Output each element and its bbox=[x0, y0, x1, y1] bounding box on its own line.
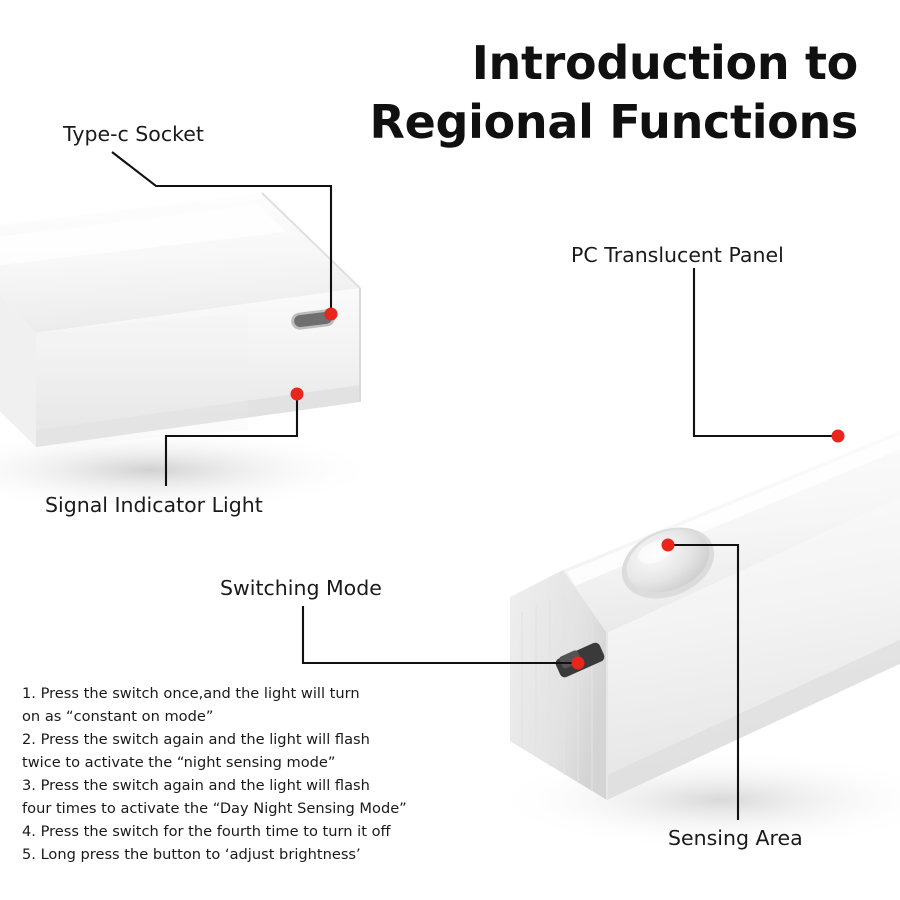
instruction-line: 5. Long press the button to ‘adjust brig… bbox=[22, 843, 452, 866]
label-type-c-socket: Type-c Socket bbox=[63, 122, 204, 147]
label-signal-indicator-light: Signal Indicator Light bbox=[45, 493, 263, 518]
label-sensing-area: Sensing Area bbox=[668, 826, 803, 851]
leader-sensing bbox=[670, 545, 738, 820]
instruction-line: 2. Press the switch again and the light … bbox=[22, 728, 452, 751]
title-line-2: Regional Functions bbox=[338, 93, 858, 152]
leader-type-c bbox=[112, 152, 331, 312]
instruction-line: 4. Press the switch for the fourth time … bbox=[22, 820, 452, 843]
instruction-line: twice to activate the “night sensing mod… bbox=[22, 751, 452, 774]
diagram-canvas: Introduction to Regional Functions Type-… bbox=[0, 0, 900, 900]
page-title: Introduction to Regional Functions bbox=[338, 34, 858, 152]
label-switching-mode: Switching Mode bbox=[220, 576, 382, 601]
leader-switching bbox=[303, 606, 576, 663]
label-pc-translucent-panel: PC Translucent Panel bbox=[571, 243, 784, 268]
leader-pc-panel bbox=[694, 268, 836, 436]
type-c-socket-marker bbox=[325, 308, 338, 321]
instructions-list: 1. Press the switch once,and the light w… bbox=[22, 682, 452, 866]
instruction-line: four times to activate the “Day Night Se… bbox=[22, 797, 452, 820]
sensing-area-marker bbox=[662, 539, 675, 552]
title-line-1: Introduction to bbox=[338, 34, 858, 93]
switching-mode-marker bbox=[572, 657, 585, 670]
signal-indicator-marker bbox=[291, 388, 304, 401]
instruction-line: 3. Press the switch again and the light … bbox=[22, 774, 452, 797]
leader-signal bbox=[166, 396, 297, 486]
instruction-line: on as “constant on mode” bbox=[22, 705, 452, 728]
pc-panel-marker bbox=[832, 430, 845, 443]
marker-dots bbox=[291, 308, 845, 670]
instruction-line: 1. Press the switch once,and the light w… bbox=[22, 682, 452, 705]
